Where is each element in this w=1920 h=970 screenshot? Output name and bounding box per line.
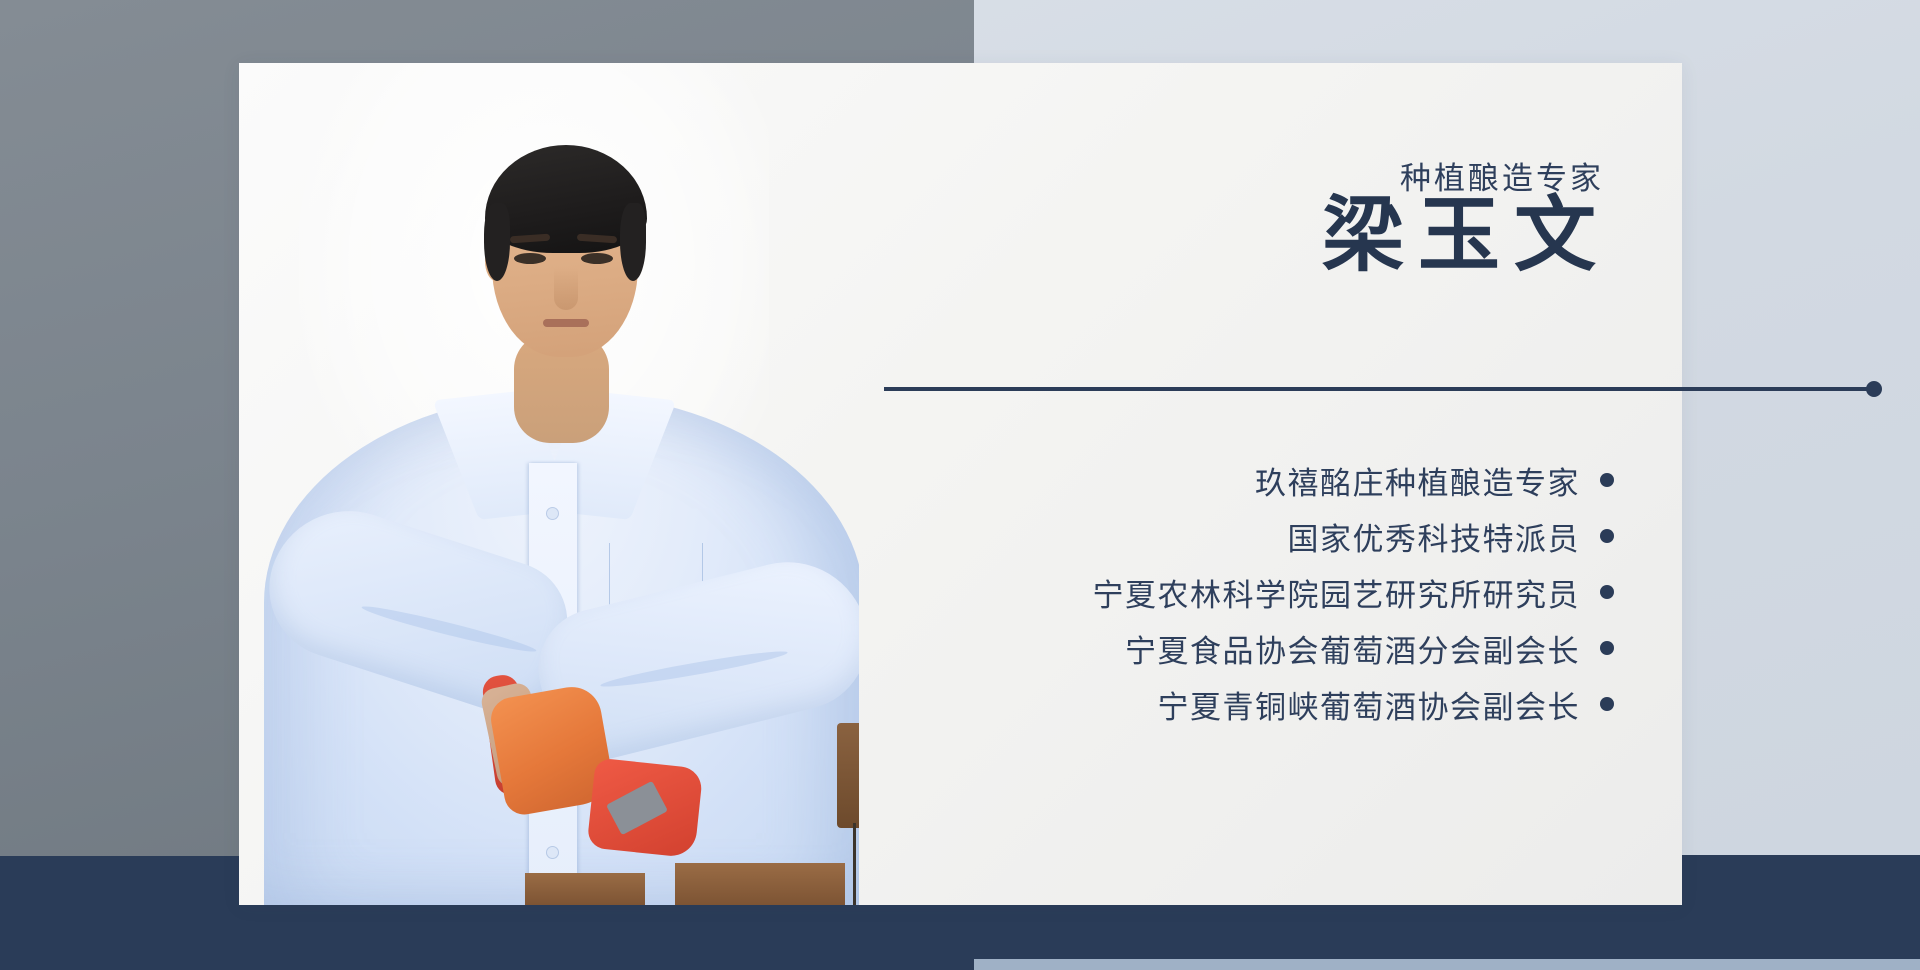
credential-text: 宁夏青铜峡葡萄酒协会副会长: [1158, 682, 1581, 727]
portrait-shirt-button: [547, 847, 558, 858]
bullet-dot-icon: [1600, 585, 1614, 599]
credential-item: 宁夏食品协会葡萄酒分会副会长: [854, 621, 1614, 675]
bullet-dot-icon: [1600, 529, 1614, 543]
credential-text: 宁夏农林科学院园艺研究所研究员: [1093, 570, 1581, 615]
bullet-dot-icon: [1600, 473, 1614, 487]
divider-line: [884, 387, 1874, 391]
portrait-eye-right: [581, 253, 613, 264]
credential-text: 玖禧酩庄种植酿造专家: [1255, 458, 1580, 503]
credential-item: 国家优秀科技特派员: [854, 509, 1614, 563]
portrait-nose: [554, 268, 578, 310]
credential-item: 宁夏农林科学院园艺研究所研究员: [854, 565, 1614, 619]
portrait-eye-left: [514, 253, 546, 264]
credentials-list: 玖禧酩庄种植酿造专家 国家优秀科技特派员 宁夏农林科学院园艺研究所研究员 宁夏食…: [854, 453, 1614, 733]
expert-profile-banner: 种植酿造专家 梁玉文 玖禧酩庄种植酿造专家 国家优秀科技特派员 宁夏农林科学院园…: [0, 0, 1920, 970]
expert-name: 梁玉文: [1322, 193, 1610, 279]
portrait-hair-side-right: [620, 203, 646, 281]
profile-card: 种植酿造专家 梁玉文 玖禧酩庄种植酿造专家 国家优秀科技特派员 宁夏农林科学院园…: [239, 63, 1682, 905]
portrait-shirt-button: [547, 508, 558, 519]
background-bottom-accent-strip: [974, 959, 1920, 970]
divider-end-dot-icon: [1866, 381, 1882, 397]
portrait-belt: [675, 863, 845, 905]
credential-text: 宁夏食品协会葡萄酒分会副会长: [1125, 626, 1580, 671]
portrait-hair-side-left: [484, 203, 510, 281]
divider: [884, 381, 1894, 397]
bullet-dot-icon: [1600, 697, 1614, 711]
credential-text: 国家优秀科技特派员: [1288, 514, 1581, 559]
credential-item: 宁夏青铜峡葡萄酒协会副会长: [854, 677, 1614, 731]
profile-text-column: 种植酿造专家 梁玉文 玖禧酩庄种植酿造专家 国家优秀科技特派员 宁夏农林科学院园…: [839, 63, 1682, 905]
bullet-dot-icon: [1600, 641, 1614, 655]
credential-item: 玖禧酩庄种植酿造专家: [854, 453, 1614, 507]
expert-portrait: [239, 63, 859, 905]
portrait-belt-secondary: [525, 873, 645, 905]
portrait-mouth: [543, 319, 589, 327]
